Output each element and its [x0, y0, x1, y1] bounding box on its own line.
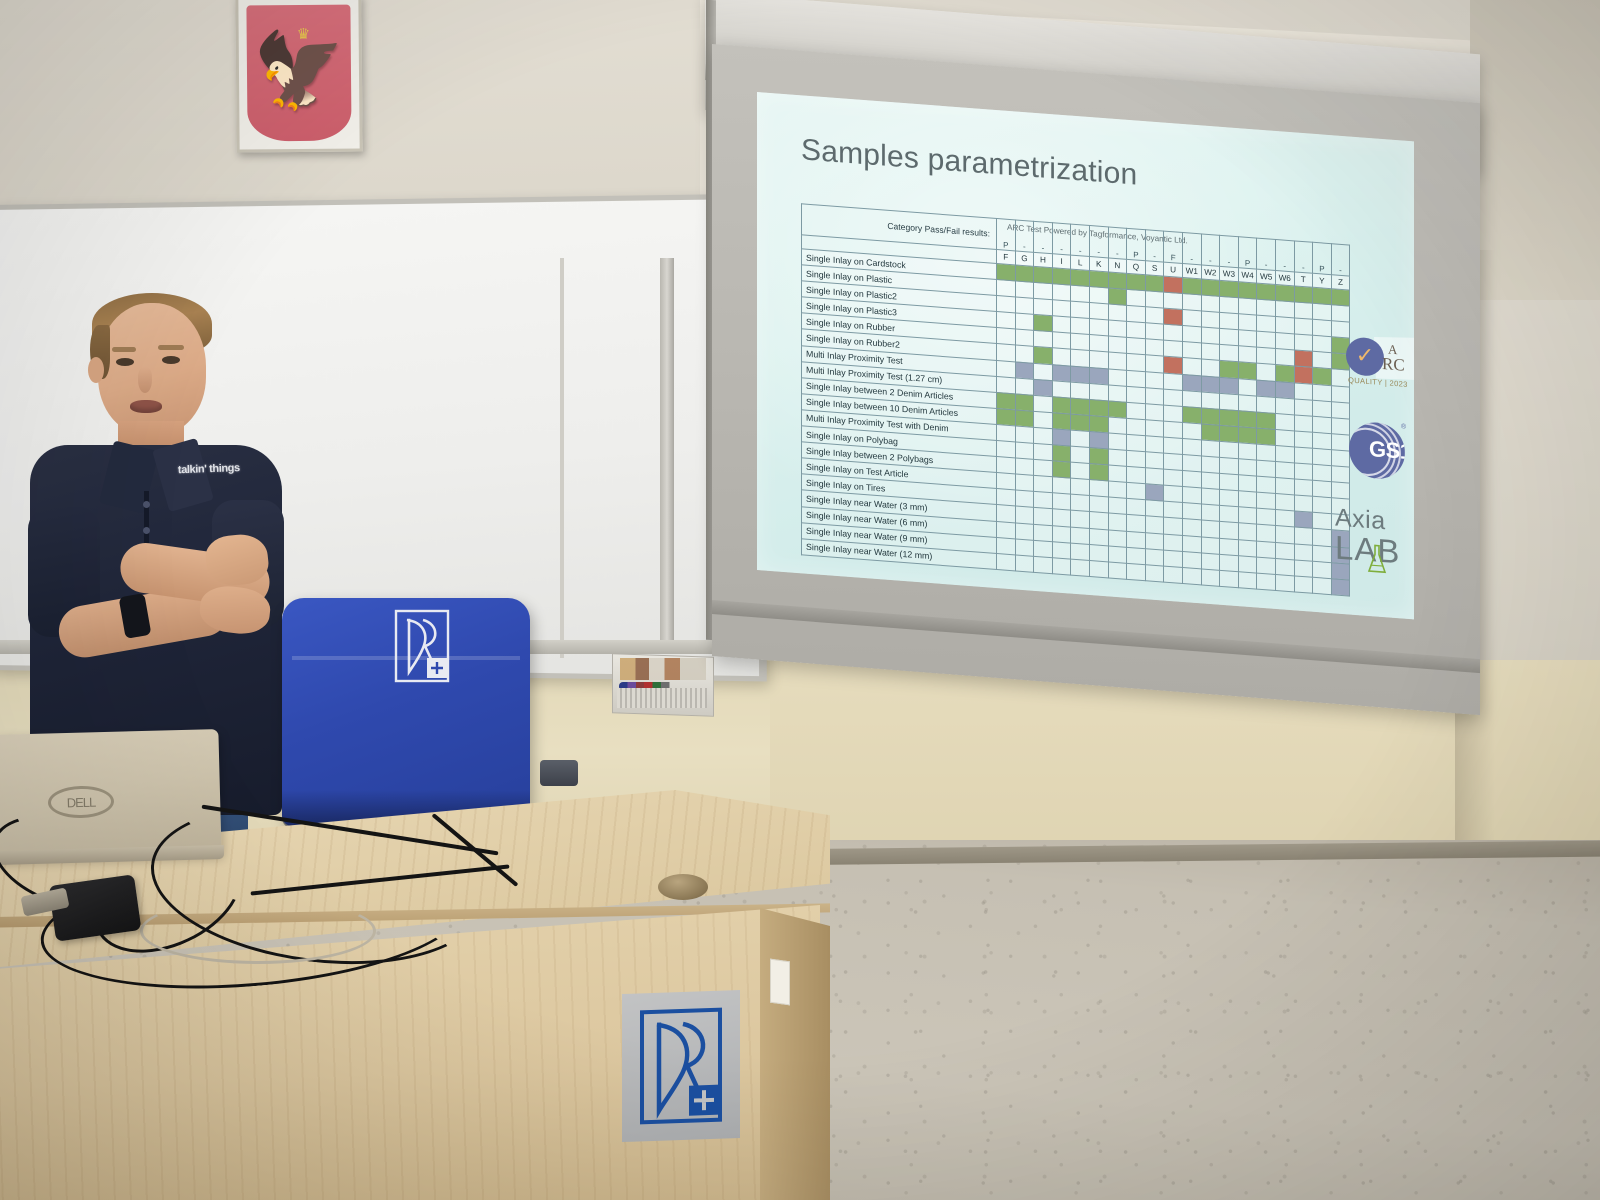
heatmap-cell [1145, 275, 1164, 292]
check-icon: ✓ [1356, 344, 1374, 367]
heatmap-cell [1313, 561, 1332, 578]
heatmap-cell [1294, 495, 1313, 512]
heatmap-cell [1182, 310, 1201, 327]
eye-left [116, 358, 134, 366]
pr-monogram-icon [393, 608, 451, 684]
heatmap-cell [1182, 294, 1201, 311]
heatmap-cell [1127, 386, 1146, 403]
column-header: W6 [1275, 270, 1294, 285]
heatmap-cell [1313, 480, 1332, 497]
heatmap-cell [1238, 539, 1257, 556]
heatmap-cell [1275, 365, 1294, 382]
heatmap-cell [1275, 542, 1294, 559]
column-header: F [997, 250, 1016, 265]
heatmap-cell [1220, 312, 1239, 329]
heatmap-cell [1145, 564, 1164, 581]
heatmap-cell [1257, 508, 1276, 525]
heatmap-cell [1164, 566, 1183, 583]
heatmap-cell [1201, 520, 1220, 537]
heatmap-cell [1275, 429, 1294, 446]
heatmap-cell [1071, 285, 1090, 302]
heatmap-cell [1220, 361, 1239, 378]
heatmap-cell [1313, 400, 1332, 417]
passfail-mark: P [1127, 228, 1146, 260]
heatmap-cell [1182, 374, 1201, 391]
heatmap-cell [997, 296, 1016, 313]
heatmap-cell [1071, 333, 1090, 350]
heatmap-cell [1034, 556, 1053, 573]
heatmap-cell [1275, 445, 1294, 462]
heatmap-cell [1182, 519, 1201, 536]
heatmap-cell [1015, 394, 1034, 411]
heatmap-cell [1015, 522, 1034, 539]
heatmap-cell [1201, 311, 1220, 328]
heatmap-cell [1331, 434, 1350, 451]
heatmap-cell [1313, 432, 1332, 449]
heatmap-cell [1164, 469, 1183, 486]
heatmap-cell [1313, 464, 1332, 481]
heatmap-cell [997, 489, 1016, 506]
heatmap-cell [1034, 492, 1053, 509]
chair-pr-logo [386, 604, 458, 688]
passfail-mark: - [1034, 221, 1053, 253]
heatmap-cell [1313, 368, 1332, 385]
heatmap-cell [997, 312, 1016, 329]
heatmap-cell [1089, 480, 1108, 497]
heatmap-cell [1052, 396, 1071, 413]
heatmap-cell [1145, 436, 1164, 453]
heatmap-cell [1071, 301, 1090, 318]
heatmap-cell [1294, 559, 1313, 576]
heatmap-cell [1238, 459, 1257, 476]
heatmap-cell [1052, 557, 1071, 574]
heatmap-cell [1331, 305, 1350, 322]
passfail-mark: - [1201, 234, 1220, 266]
heatmap-cell [1071, 366, 1090, 383]
heatmap-cell [1275, 558, 1294, 575]
heatmap-cell [1089, 560, 1108, 577]
column-header: W1 [1182, 263, 1201, 278]
heatmap-cell [1052, 348, 1071, 365]
heatmap-cell [1089, 399, 1108, 416]
heatmap-cell [1108, 336, 1127, 353]
heatmap-cell [1089, 448, 1108, 465]
heatmap-cell [1164, 437, 1183, 454]
heatmap-cell [1238, 410, 1257, 427]
heatmap-cell [1145, 452, 1164, 469]
passfail-mark: - [1182, 232, 1201, 264]
heatmap-cell [1238, 314, 1257, 331]
heatmap-cell [1127, 466, 1146, 483]
heatmap-cell [1201, 424, 1220, 441]
heatmap-cell [1294, 527, 1313, 544]
heatmap-cell [1238, 282, 1257, 299]
heatmap-cell [1201, 488, 1220, 505]
heatmap-cell [1089, 367, 1108, 384]
heatmap-cell [1015, 297, 1034, 314]
heatmap-cell [1257, 331, 1276, 348]
eyebrow-left [112, 347, 136, 352]
heatmap-cell [1313, 352, 1332, 369]
heatmap-cell [1220, 473, 1239, 490]
column-header: U [1164, 262, 1183, 277]
heatmap-cell [1331, 417, 1350, 434]
heatmap-cell [1201, 440, 1220, 457]
heatmap-cell [1238, 394, 1257, 411]
heatmap-cell [1257, 557, 1276, 574]
heatmap-cell [997, 505, 1016, 522]
heatmap-cell [1108, 368, 1127, 385]
heatmap-cell [1294, 543, 1313, 560]
heatmap-cell [1201, 359, 1220, 376]
heatmap-cell [1313, 287, 1332, 304]
heatmap-cell [1294, 286, 1313, 303]
heatmap-cell [1164, 292, 1183, 309]
heatmap-cell [1275, 510, 1294, 527]
nose [138, 367, 152, 393]
heatmap-cell [1294, 415, 1313, 432]
samples-parametrization-table: Category Pass/Fail results:P------P-F---… [801, 203, 1350, 596]
heatmap-cell [1089, 270, 1108, 287]
heatmap-cell [1275, 317, 1294, 334]
heatmap-cell [1052, 509, 1071, 526]
heatmap-cell [1071, 543, 1090, 560]
heatmap-cell [1034, 266, 1053, 283]
heatmap-cell [1294, 447, 1313, 464]
heatmap-cell [1238, 298, 1257, 315]
heatmap-cell [1034, 476, 1053, 493]
heatmap-cell [1071, 478, 1090, 495]
gs1-logo: GS1 ® [1349, 421, 1413, 484]
column-header: G [1015, 251, 1034, 266]
heatmap-cell [1238, 523, 1257, 540]
heatmap-cell [1015, 361, 1034, 378]
heatmap-cell [1145, 339, 1164, 356]
heatmap-cell [1257, 573, 1276, 590]
heatmap-cell [1220, 441, 1239, 458]
registered-icon: ® [1401, 423, 1406, 430]
heatmap-cell [1182, 390, 1201, 407]
heatmap-cell [1015, 410, 1034, 427]
pr-monogram-icon [637, 1004, 725, 1127]
gs1-label: GS1 [1369, 436, 1405, 465]
shirt-placket [144, 491, 149, 549]
screenshot-scene: 🦅 ♛ Samples parametrization ARC Test Pow… [0, 0, 1600, 1200]
heatmap-cell [1182, 535, 1201, 552]
heatmap-cell [1257, 524, 1276, 541]
heatmap-cell [1294, 511, 1313, 528]
heatmap-cell [1071, 398, 1090, 415]
heatmap-cell [1257, 396, 1276, 413]
heatmap-cell [1220, 570, 1239, 587]
heatmap-cell [1034, 459, 1053, 476]
column-header: W2 [1201, 265, 1220, 280]
heatmap-cell [1145, 516, 1164, 533]
eagle-icon: 🦅 [253, 34, 346, 109]
heatmap-cell [1182, 487, 1201, 504]
heatmap-cell [1071, 317, 1090, 334]
heatmap-cell [1015, 313, 1034, 330]
heatmap-cell [1071, 527, 1090, 544]
heatmap-cell [1071, 414, 1090, 431]
passfail-mark: - [1145, 230, 1164, 262]
arc-quality-logo: ✓ A RC QUALITY | 2023 [1342, 326, 1414, 394]
heatmap-cell [1127, 289, 1146, 306]
heatmap-cell [1145, 323, 1164, 340]
heatmap-cell [1238, 555, 1257, 572]
heatmap-cell [1071, 382, 1090, 399]
heatmap-cell [1127, 547, 1146, 564]
heatmap-cell [1164, 501, 1183, 518]
heatmap-cell [1145, 484, 1164, 501]
heatmap-cell [1127, 322, 1146, 339]
heatmap-cell [1164, 324, 1183, 341]
passfail-mark: - [1089, 225, 1108, 257]
heatmap-cell [1201, 375, 1220, 392]
passfail-mark: - [1331, 244, 1350, 276]
heatmap-cell [1182, 471, 1201, 488]
heatmap-cell [1108, 385, 1127, 402]
heatmap-cell [1034, 282, 1053, 299]
heatmap-cell [1313, 545, 1332, 562]
heatmap-cell [1294, 318, 1313, 335]
heatmap-cell [1127, 273, 1146, 290]
passfail-mark: P [1238, 237, 1257, 269]
heatmap-cell [1201, 392, 1220, 409]
heatmap-cell [1034, 427, 1053, 444]
heatmap-cell [1275, 574, 1294, 591]
heatmap-cell [1127, 483, 1146, 500]
heatmap-cell [1108, 481, 1127, 498]
heatmap-cell [1034, 347, 1053, 364]
shirt-button-top [143, 501, 150, 508]
heatmap-cell [1145, 355, 1164, 372]
heatmap-cell [1275, 494, 1294, 511]
flask-icon [1366, 544, 1388, 576]
heatmap-cell [1145, 307, 1164, 324]
heatmap-cell [1145, 548, 1164, 565]
heatmap-cell [1052, 332, 1071, 349]
column-header: N [1108, 258, 1127, 273]
heatmap-cell [1145, 500, 1164, 517]
heatmap-cell [1034, 331, 1053, 348]
heatmap-cell [1331, 401, 1350, 418]
heatmap-cell [1089, 287, 1108, 304]
grey-cable [140, 898, 376, 964]
heatmap-cell [1257, 299, 1276, 316]
heatmap-cell [1108, 562, 1127, 579]
heatmap-cell [1034, 540, 1053, 557]
heatmap-cell [1108, 545, 1127, 562]
heatmap-cell [1275, 381, 1294, 398]
heatmap-cell [1182, 438, 1201, 455]
polish-coat-of-arms-frame: 🦅 ♛ [235, 0, 362, 153]
heatmap-cell [1331, 466, 1350, 483]
heatmap-cell [1257, 492, 1276, 509]
heatmap-cell [1220, 538, 1239, 555]
heatmap-cell [1257, 380, 1276, 397]
heatmap-cell [1127, 563, 1146, 580]
heatmap-cell [1145, 387, 1164, 404]
heatmap-cell [1127, 354, 1146, 371]
passfail-mark: F [1164, 231, 1183, 263]
projected-slide: Samples parametrization ARC Test Powered… [757, 92, 1414, 619]
heatmap-cell [1294, 576, 1313, 593]
heatmap-cell [1108, 417, 1127, 434]
heatmap-cell [1071, 446, 1090, 463]
heatmap-cell [1275, 397, 1294, 414]
shirt-button-bottom [143, 527, 150, 534]
heatmap-cell [1015, 458, 1034, 475]
heatmap-cell [1238, 346, 1257, 363]
heatmap-cell [1294, 350, 1313, 367]
heatmap-cell [1257, 428, 1276, 445]
heatmap-cell [1294, 431, 1313, 448]
passfail-mark: - [1052, 223, 1071, 255]
heatmap-cell [1108, 449, 1127, 466]
heatmap-cell [1108, 465, 1127, 482]
heatmap-cell [1015, 555, 1034, 572]
heatmap-cell [1201, 295, 1220, 312]
desk-side-panel [760, 908, 830, 1200]
heatmap-cell [1052, 525, 1071, 542]
heatmap-cell [1127, 515, 1146, 532]
heatmap-cell [1034, 524, 1053, 541]
heatmap-cell [1052, 541, 1071, 558]
heatmap-cell [1089, 544, 1108, 561]
heatmap-cell [1164, 340, 1183, 357]
heatmap-cell [1201, 536, 1220, 553]
heatmap-cell [1145, 420, 1164, 437]
column-header: L [1071, 255, 1090, 270]
heatmap-cell [1127, 305, 1146, 322]
heatmap-cell [1071, 269, 1090, 286]
heatmap-cell [1034, 395, 1053, 412]
passfail-mark: - [1108, 227, 1127, 259]
coat-of-arms-shield: 🦅 ♛ [246, 5, 351, 142]
desk-label-tag [770, 959, 790, 1006]
heatmap-cell [1164, 276, 1183, 293]
heatmap-cell [1257, 347, 1276, 364]
whiteboard-arm [660, 258, 674, 653]
heatmap-cell [1052, 316, 1071, 333]
heatmap-cell [997, 344, 1016, 361]
heatmap-cell [1220, 329, 1239, 346]
heatmap-cell [1071, 494, 1090, 511]
heatmap-cell [1089, 431, 1108, 448]
heatmap-cell [997, 360, 1016, 377]
heatmap-cell [1145, 403, 1164, 420]
heatmap-cell [1034, 411, 1053, 428]
heatmap-cell [1275, 333, 1294, 350]
heatmap-cell [1220, 506, 1239, 523]
heatmap-cell [1313, 448, 1332, 465]
heatmap-cell [997, 264, 1016, 281]
heatmap-cell [1238, 330, 1257, 347]
heatmap-cell [1089, 528, 1108, 545]
heatmap-cell [1015, 426, 1034, 443]
heatmap-cell [1108, 288, 1127, 305]
heatmap-cell [1182, 503, 1201, 520]
heatmap-cell [1034, 298, 1053, 315]
heatmap-cell [997, 376, 1016, 393]
heatmap-cell [1201, 327, 1220, 344]
heatmap-cell [1108, 272, 1127, 289]
heatmap-cell [1015, 442, 1034, 459]
heatmap-cell [1313, 529, 1332, 546]
heatmap-cell [1071, 430, 1090, 447]
heatmap-cell [1275, 349, 1294, 366]
heatmap-cell [1034, 443, 1053, 460]
heatmap-cell [997, 441, 1016, 458]
heatmap-cell [1127, 418, 1146, 435]
heatmap-cell [1164, 389, 1183, 406]
heatmap-cell [1220, 280, 1239, 297]
heatmap-cell [1052, 284, 1071, 301]
heatmap-cell [1201, 408, 1220, 425]
heatmap-cell [1052, 461, 1071, 478]
heatmap-cell [1052, 380, 1071, 397]
heatmap-cell [1238, 571, 1257, 588]
heatmap-cell [1127, 499, 1146, 516]
heatmap-cell [1313, 303, 1332, 320]
heatmap-cell [1182, 326, 1201, 343]
heatmap-cell [1220, 393, 1239, 410]
heatmap-cell [1015, 329, 1034, 346]
heatmap-cell [1108, 401, 1127, 418]
heatmap-cell [1294, 366, 1313, 383]
chair-leg [540, 760, 578, 786]
heatmap-cell [1089, 303, 1108, 320]
heatmap-cell [1015, 265, 1034, 282]
heatmap-cell [1015, 345, 1034, 362]
passfail-mark: P [1313, 242, 1332, 274]
whiteboard-seam [560, 258, 564, 658]
heatmap-cell [1034, 315, 1053, 332]
heatmap-cell [1015, 538, 1034, 555]
heatmap-cell [1238, 507, 1257, 524]
heatmap-cell [1220, 522, 1239, 539]
heatmap-cell [1127, 402, 1146, 419]
column-header: T [1294, 272, 1313, 287]
heatmap-cell [1089, 512, 1108, 529]
heatmap-cell [1257, 283, 1276, 300]
heatmap-cell [1331, 450, 1350, 467]
heatmap-cell [1164, 517, 1183, 534]
heatmap-cell [1164, 534, 1183, 551]
heatmap-cell [1201, 504, 1220, 521]
heatmap-cell [1127, 434, 1146, 451]
heatmap-cell [1089, 496, 1108, 513]
heatmap-cell [1220, 409, 1239, 426]
heatmap-cell [1034, 379, 1053, 396]
arc-letters-rc: RC [1382, 354, 1405, 376]
heatmap-cell [1164, 550, 1183, 567]
heatmap-cell [997, 408, 1016, 425]
heatmap-cell [1294, 382, 1313, 399]
heatmap-cell [1089, 383, 1108, 400]
heatmap-cell [1201, 552, 1220, 569]
heatmap-cell [1052, 477, 1071, 494]
heatmap-cell [1145, 532, 1164, 549]
heatmap-cell [1220, 345, 1239, 362]
heatmap-cell [1220, 457, 1239, 474]
ear [88, 357, 104, 383]
heatmap-cell [1294, 399, 1313, 416]
shirt-logo: talkin' things [178, 462, 251, 481]
heatmap-cell [1257, 541, 1276, 558]
heatmap-cell [1275, 301, 1294, 318]
